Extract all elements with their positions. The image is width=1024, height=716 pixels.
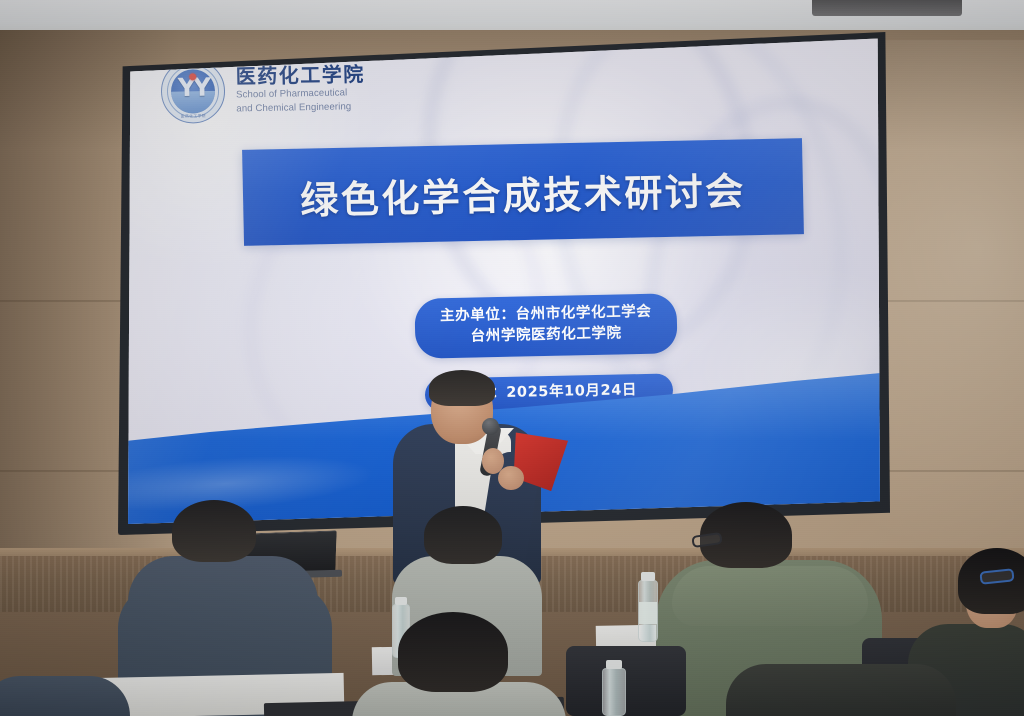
slide-title-banner: 绿色化学合成技术研讨会: [242, 138, 804, 246]
water-bottle[interactable]: [602, 668, 626, 716]
audience-front-center-head: [398, 612, 508, 692]
speaker-hand-2: [498, 466, 524, 490]
speaker-hair: [429, 370, 495, 406]
audience-bottom-left-shoulder: [0, 676, 130, 716]
audience-green-hoodie-hood: [672, 566, 868, 626]
organizer-pill: 主办单位：台州市化学化工学会 台州学院医药化工学院: [414, 293, 677, 359]
school-name-en-line1: School of Pharmaceutical: [236, 87, 365, 102]
photo-scene: YY TAIZHOU UNIVERSITY 医药化工学院 医药化工学院 Scho…: [0, 0, 1024, 716]
bottle-cap: [606, 660, 622, 669]
school-name-en-line2: and Chemical Engineering: [236, 101, 365, 116]
audience-right-dark-body: [726, 664, 956, 716]
audience-left-suit-head: [172, 500, 256, 562]
emblem-ring-bottom-text: 医药化工学院: [162, 114, 224, 120]
emblem-ring: [167, 65, 220, 118]
bottle-cap: [395, 597, 407, 605]
audience-center-grey-head: [424, 506, 502, 564]
slide-title: 绿色化学合成技术研讨会: [300, 160, 747, 224]
school-name-cn: 医药化工学院: [236, 63, 365, 87]
office-chair[interactable]: [566, 646, 686, 716]
bottle-label: [639, 602, 657, 624]
bottle-cap: [641, 572, 655, 581]
ceiling-vent-icon: [812, 0, 962, 16]
school-name-block: 医药化工学院 School of Pharmaceutical and Chem…: [236, 63, 366, 116]
